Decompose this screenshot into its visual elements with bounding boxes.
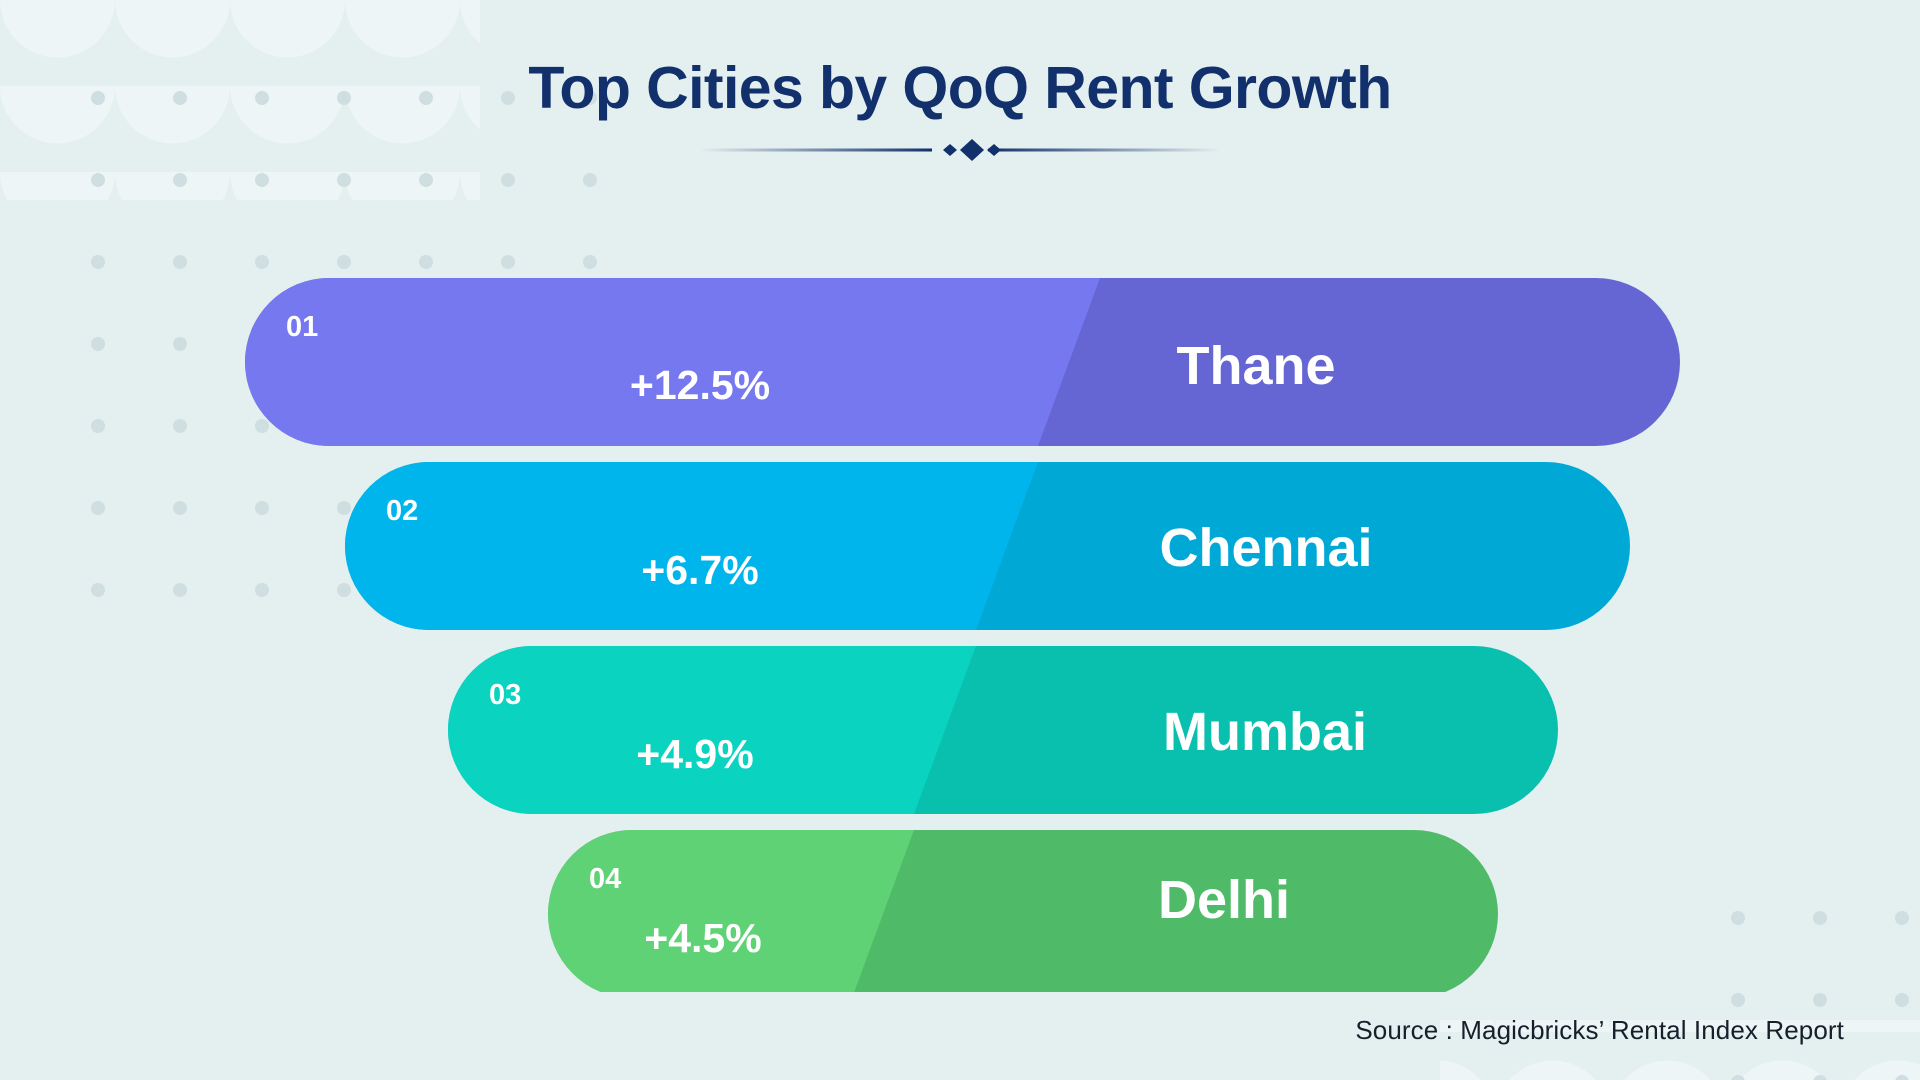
funnel-chart-svg: 01 +12.5% Thane 02 +6.7% Chennai <box>0 262 1920 992</box>
funnel-row-3-overlay <box>448 646 976 814</box>
funnel-row-4-overlay <box>548 830 914 992</box>
funnel-chart: 01 +12.5% Thane 02 +6.7% Chennai <box>0 262 1920 992</box>
funnel-row-1-value: +12.5% <box>630 362 770 408</box>
funnel-row-1-rank: 01 <box>286 311 318 343</box>
funnel-row-2-value: +6.7% <box>641 547 758 593</box>
funnel-row-4-rank: 04 <box>589 863 621 895</box>
funnel-row-1-city: Thane <box>1176 336 1335 396</box>
page-title: Top Cities by QoQ Rent Growth <box>0 55 1920 121</box>
funnel-row-2-overlay <box>345 462 1038 630</box>
title-divider <box>0 137 1920 163</box>
funnel-row-3-value: +4.9% <box>636 731 753 777</box>
funnel-row-4-value: +4.5% <box>644 915 761 961</box>
funnel-row-3[interactable]: 03 +4.9% Mumbai <box>448 646 1558 814</box>
infographic-canvas: Top Cities by QoQ Rent Growth <box>0 0 1920 1080</box>
funnel-row-2[interactable]: 02 +6.7% Chennai <box>345 462 1630 630</box>
funnel-row-3-city: Mumbai <box>1163 702 1367 762</box>
funnel-row-3-rank: 03 <box>489 679 521 711</box>
source-note: Source : Magicbricks’ Rental Index Repor… <box>1355 1015 1844 1046</box>
funnel-row-4[interactable]: 04 +4.5% Delhi <box>548 830 1498 992</box>
funnel-row-4-city: Delhi <box>1158 870 1290 930</box>
header: Top Cities by QoQ Rent Growth <box>0 55 1920 163</box>
funnel-row-2-city: Chennai <box>1159 518 1372 578</box>
funnel-row-1[interactable]: 01 +12.5% Thane <box>245 278 1680 446</box>
diamond-divider-icon <box>700 137 1220 163</box>
funnel-row-2-rank: 02 <box>386 495 418 527</box>
